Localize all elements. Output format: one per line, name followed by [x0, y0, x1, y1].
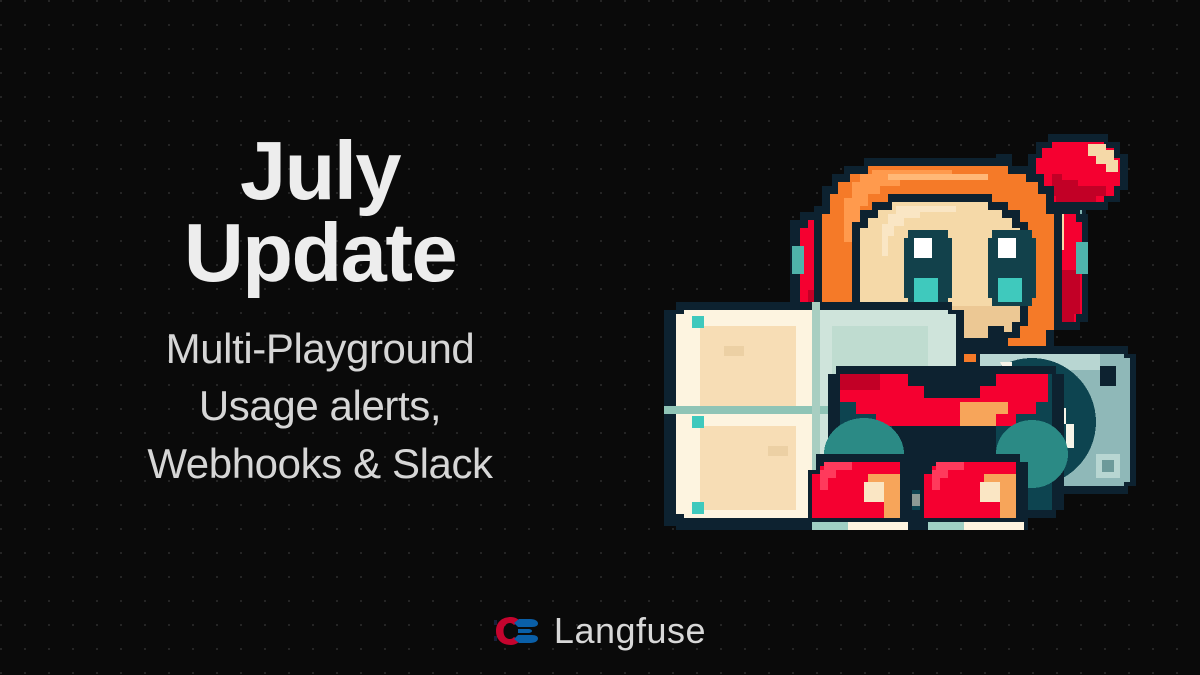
langfuse-logo-icon	[494, 614, 540, 648]
robot-illustration	[640, 110, 1140, 530]
brand-name: Langfuse	[554, 613, 706, 649]
hero-text-block: July Update Multi-Playground Usage alert…	[0, 130, 640, 492]
brand-footer: Langfuse	[0, 613, 1200, 649]
page-title: July Update	[0, 130, 640, 294]
page-subtitle: Multi-Playground Usage alerts, Webhooks …	[0, 320, 640, 491]
promo-card-canvas: July Update Multi-Playground Usage alert…	[0, 0, 1200, 675]
